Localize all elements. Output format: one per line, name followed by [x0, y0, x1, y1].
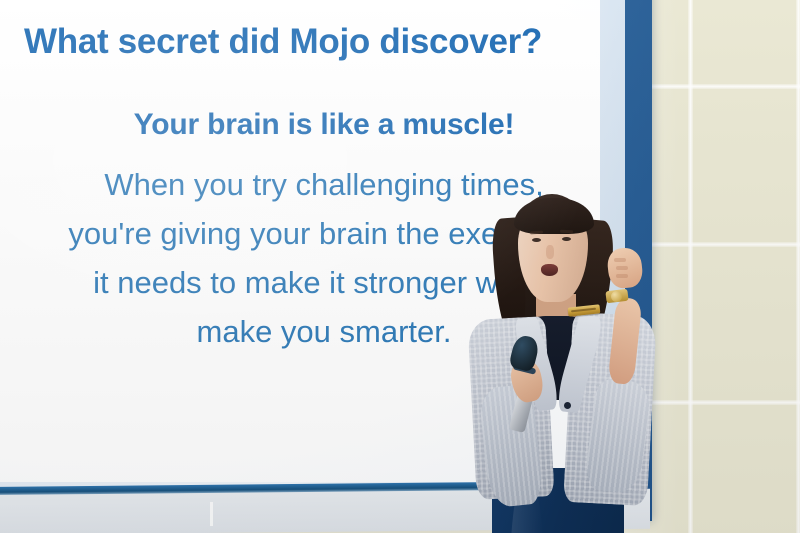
wall-grout-vertical — [796, 0, 800, 533]
speaker-figure — [440, 190, 690, 533]
speaker-eye-left — [532, 238, 541, 242]
speaker-knuckle — [616, 274, 628, 278]
speaker-blazer-button — [564, 402, 571, 409]
speaker-knuckle — [616, 266, 628, 270]
speaker-eyebrow-right — [560, 230, 573, 234]
speaker-hair-fringe — [514, 198, 594, 234]
wall-panel-seam — [210, 502, 213, 526]
presentation-photo: What secret did Mojo discover? Your brai… — [0, 0, 800, 533]
speaker-knuckle — [614, 258, 626, 262]
speaker-mouth — [541, 264, 558, 276]
speaker-eye-right — [562, 237, 571, 241]
speaker-nose — [546, 245, 554, 259]
slide-title: What secret did Mojo discover? — [24, 22, 542, 62]
slide-subtitle: Your brain is like a muscle! — [0, 108, 648, 142]
